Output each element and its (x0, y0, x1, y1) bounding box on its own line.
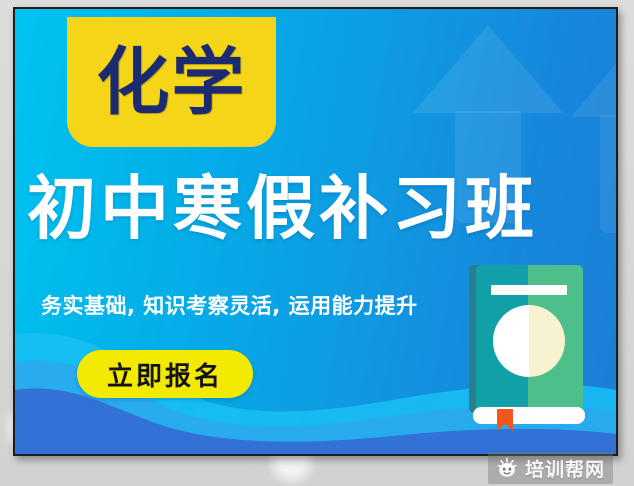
watermark: 培训帮网 (488, 452, 613, 484)
arrow-head (571, 55, 618, 117)
enroll-now-button-label: 立即报名 (107, 356, 223, 393)
book-illustration (467, 259, 593, 431)
headline: 初中寒假补习班 (27, 175, 607, 244)
promo-banner[interactable]: 化学 初中寒假补习班 务实基础, 知识考察灵活, 运用能力提升 立即报名 (13, 7, 618, 456)
arrow-head (413, 25, 563, 113)
book-pages (473, 407, 585, 424)
subtitle: 务实基础, 知识考察灵活, 运用能力提升 (41, 290, 418, 320)
subject-badge: 化学 (67, 17, 276, 147)
sun-face-icon (496, 457, 518, 479)
book-bookmark (497, 409, 513, 431)
subject-badge-label: 化学 (97, 46, 247, 119)
watermark-label: 培训帮网 (525, 455, 605, 482)
enroll-now-button[interactable]: 立即报名 (77, 350, 253, 398)
page-canvas: 化学 初中寒假补习班 务实基础, 知识考察灵活, 运用能力提升 立即报名 (0, 0, 634, 486)
book-title-bar (491, 285, 567, 295)
